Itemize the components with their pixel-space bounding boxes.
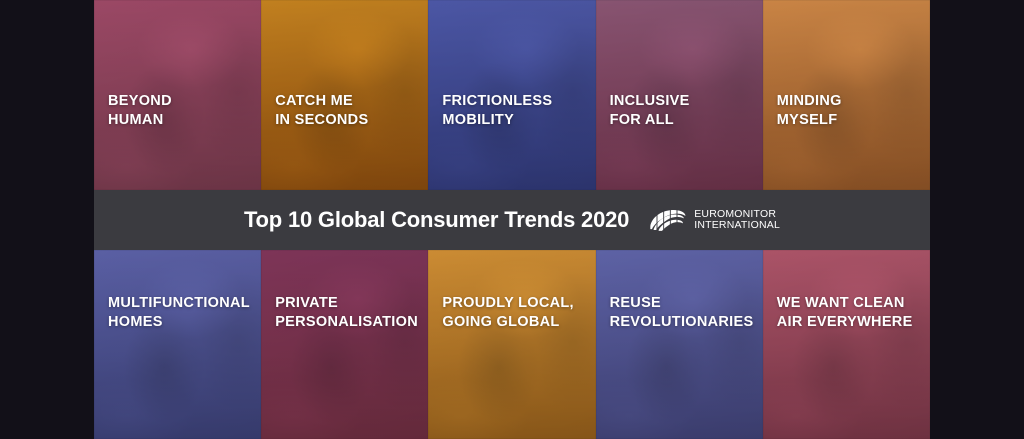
trend-tile-frictionless-mobility[interactable]: FRICTIONLESS MOBILITY (428, 0, 595, 190)
tile-label: REUSE REVOLUTIONARIES (610, 294, 760, 332)
tile-label-line2: MOBILITY (442, 111, 592, 130)
tile-label-line1: REUSE (610, 294, 760, 313)
tile-label-line2: HUMAN (108, 111, 258, 130)
trend-tile-inclusive-for-all[interactable]: INCLUSIVE FOR ALL (596, 0, 763, 190)
tile-label-line1: MULTIFUNCTIONAL (108, 294, 258, 313)
trend-tile-we-want-clean-air-everywhere[interactable]: WE WANT CLEAN AIR EVERYWHERE (763, 250, 930, 439)
tile-label-line1: PROUDLY LOCAL, (442, 294, 592, 313)
trend-tile-multifunctional-homes[interactable]: MULTIFUNCTIONAL HOMES (94, 250, 261, 439)
tile-label-line2: GOING GLOBAL (442, 313, 592, 332)
tile-label: PROUDLY LOCAL, GOING GLOBAL (442, 294, 592, 332)
logo-line-2: INTERNATIONAL (694, 220, 780, 231)
tile-label-line2: MYSELF (777, 111, 927, 130)
bottom-row: MULTIFUNCTIONAL HOMES PRIVATE PERSONALIS… (94, 250, 930, 439)
trend-tile-proudly-local-going-global[interactable]: PROUDLY LOCAL, GOING GLOBAL (428, 250, 595, 439)
tile-label: INCLUSIVE FOR ALL (610, 92, 760, 130)
tile-label: MINDING MYSELF (777, 92, 927, 130)
trend-tile-minding-myself[interactable]: MINDING MYSELF (763, 0, 930, 190)
euromonitor-globe-mark (647, 207, 687, 233)
tile-label: CATCH ME IN SECONDS (275, 92, 425, 130)
page-title: Top 10 Global Consumer Trends 2020 (244, 207, 629, 233)
euromonitor-logo: EUROMONITOR INTERNATIONAL (647, 207, 780, 233)
tile-shade (428, 250, 595, 439)
tile-label-line1: CATCH ME (275, 92, 425, 111)
tile-label-line1: BEYOND (108, 92, 258, 111)
tile-shade (596, 250, 763, 439)
tile-label-line2: REVOLUTIONARIES (610, 313, 760, 332)
trend-tile-private-personalisation[interactable]: PRIVATE PERSONALISATION (261, 250, 428, 439)
tile-label: WE WANT CLEAN AIR EVERYWHERE (777, 294, 927, 332)
tile-label-line2: IN SECONDS (275, 111, 425, 130)
trend-tile-reuse-revolutionaries[interactable]: REUSE REVOLUTIONARIES (596, 250, 763, 439)
tile-label-line2: HOMES (108, 313, 258, 332)
logo-wordmark: EUROMONITOR INTERNATIONAL (694, 209, 780, 231)
tile-label: PRIVATE PERSONALISATION (275, 294, 425, 332)
tile-label-line1: MINDING (777, 92, 927, 111)
tile-shade (261, 250, 428, 439)
tile-label: MULTIFUNCTIONAL HOMES (108, 294, 258, 332)
tile-shade (763, 250, 930, 439)
tile-label: FRICTIONLESS MOBILITY (442, 92, 592, 130)
trend-tile-beyond-human[interactable]: BEYOND HUMAN (94, 0, 261, 190)
top-row: BEYOND HUMAN CATCH ME IN SECONDS (94, 0, 930, 190)
tile-shade (94, 250, 261, 439)
tile-label-line2: PERSONALISATION (275, 313, 425, 332)
trend-tile-catch-me-in-seconds[interactable]: CATCH ME IN SECONDS (261, 0, 428, 190)
tile-label-line1: FRICTIONLESS (442, 92, 592, 111)
trends-infographic: BEYOND HUMAN CATCH ME IN SECONDS (0, 0, 1024, 439)
tile-label-line1: PRIVATE (275, 294, 425, 313)
tile-label-line1: INCLUSIVE (610, 92, 760, 111)
tile-label-line2: FOR ALL (610, 111, 760, 130)
tile-label-line2: AIR EVERYWHERE (777, 313, 927, 332)
tile-label: BEYOND HUMAN (108, 92, 258, 130)
tile-label-line1: WE WANT CLEAN (777, 294, 927, 313)
center-banner: Top 10 Global Consumer Trends 2020 EUROM… (94, 190, 930, 250)
